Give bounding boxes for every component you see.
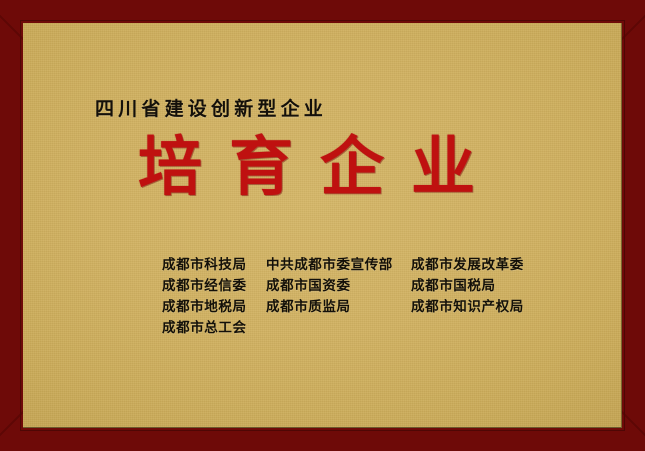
plaque-subtitle: 四川省建设创新型企业 — [95, 94, 327, 121]
organization-item: 成都市质监局 — [266, 297, 411, 318]
frame-corner-miter-bottom-left — [0, 410, 25, 440]
organization-item: 成都市国税局 — [411, 276, 571, 297]
gold-panel: 四川省建设创新型企业 培育企业 成都市科技局 成都市经信委 成都市地税局 成都市… — [23, 23, 622, 428]
organization-item: 中共成都市委宣传部 — [266, 255, 411, 276]
organization-item: 成都市发展改革委 — [411, 255, 571, 276]
organization-column-1: 成都市科技局 成都市经信委 成都市地税局 成都市总工会 — [162, 255, 266, 339]
organization-item: 成都市总工会 — [162, 318, 266, 339]
organization-column-3: 成都市发展改革委 成都市国税局 成都市知识产权局 — [411, 255, 571, 318]
organization-column-2: 中共成都市委宣传部 成都市国资委 成都市质监局 — [266, 255, 411, 318]
plaque-title: 培育企业 — [138, 136, 502, 200]
frame-corner-miter-bottom-right — [620, 410, 645, 440]
award-plaque: 四川省建设创新型企业 培育企业 成都市科技局 成都市经信委 成都市地税局 成都市… — [0, 0, 645, 451]
organization-item: 成都市地税局 — [162, 297, 266, 318]
issuing-organizations: 成都市科技局 成都市经信委 成都市地税局 成都市总工会 中共成都市委宣传部 成都… — [162, 255, 571, 339]
organization-item: 成都市知识产权局 — [411, 297, 571, 318]
organization-item: 成都市经信委 — [162, 276, 266, 297]
frame-corner-miter-top-right — [620, 11, 645, 41]
organization-item: 成都市科技局 — [162, 255, 266, 276]
panel-content: 四川省建设创新型企业 培育企业 成都市科技局 成都市经信委 成都市地税局 成都市… — [23, 23, 621, 427]
organization-item: 成都市国资委 — [266, 276, 411, 297]
frame-corner-miter-top-left — [0, 11, 25, 41]
